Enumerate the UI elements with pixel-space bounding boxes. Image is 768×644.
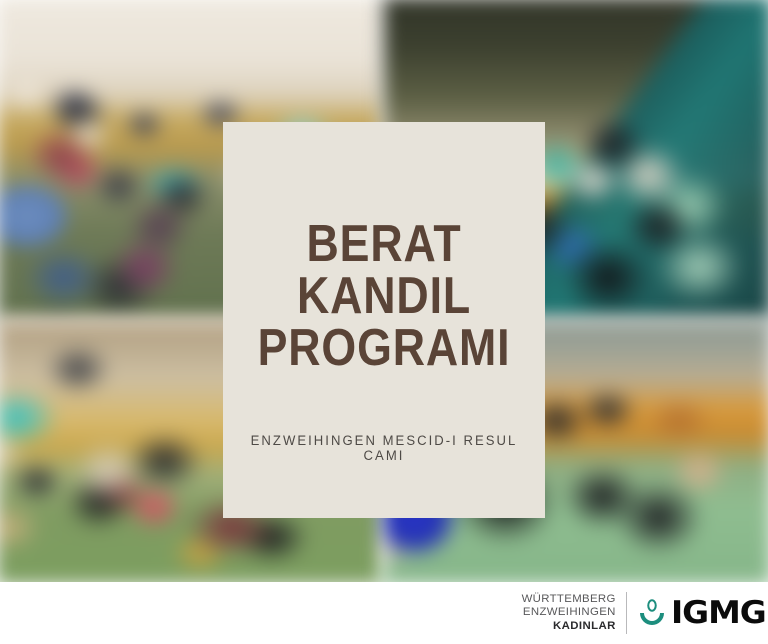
poster: BERAT KANDIL PROGRAMI ENZWEIHINGEN MESCI…	[0, 0, 768, 644]
poster-subtitle: ENZWEIHINGEN MESCID-I RESUL CAMI	[228, 433, 540, 463]
org-line-group: KADINLAR	[522, 620, 616, 634]
igmg-logo: IGMG	[627, 598, 760, 629]
organization-name: WÜRTTEMBERG ENZWEIHINGEN KADINLAR	[522, 593, 626, 634]
footer-logo: WÜRTTEMBERG ENZWEIHINGEN KADINLAR IGMG	[522, 592, 760, 634]
poster-title: BERAT KANDIL PROGRAMI	[246, 218, 523, 374]
igmg-wordmark: IGMG	[671, 598, 766, 629]
org-line-region: WÜRTTEMBERG	[522, 593, 616, 607]
igmg-tulip-mark-icon	[638, 598, 666, 629]
title-card-content: BERAT KANDIL PROGRAMI ENZWEIHINGEN MESCI…	[223, 122, 545, 518]
title-card: BERAT KANDIL PROGRAMI ENZWEIHINGEN MESCI…	[223, 122, 545, 518]
footer-bar: WÜRTTEMBERG ENZWEIHINGEN KADINLAR IGMG	[0, 582, 768, 644]
org-line-city: ENZWEIHINGEN	[522, 606, 616, 620]
